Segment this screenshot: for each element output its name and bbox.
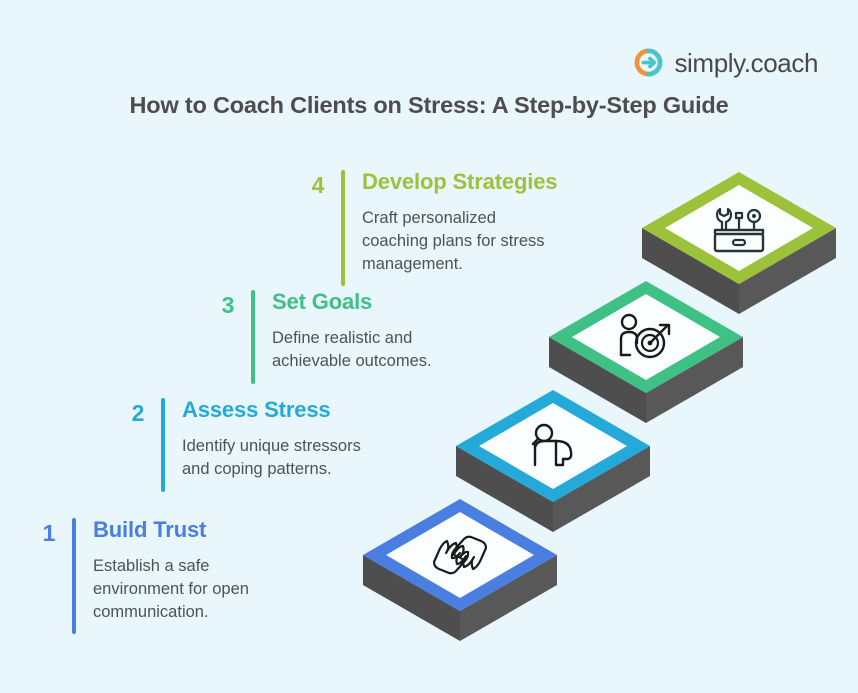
step-number-3: 3 (205, 290, 251, 317)
step-rule-4 (341, 170, 345, 286)
step-number-4: 4 (295, 170, 341, 197)
person-target-arrow-icon (621, 315, 669, 357)
step-block-3 (549, 281, 743, 423)
step-block-4 (642, 172, 836, 314)
step-rule-2 (161, 398, 165, 492)
step-rule-3 (251, 290, 255, 384)
step-description-2: Identify unique stressors and coping pat… (182, 435, 361, 482)
handshake-icon (434, 537, 486, 574)
step-item-4: 4 Develop Strategies Craft personalized … (295, 170, 557, 286)
step-block-2 (456, 390, 650, 532)
step-item-2: 2 Assess Stress Identify unique stressor… (115, 398, 361, 492)
step-description-4: Craft personalized coaching plans for st… (362, 207, 557, 277)
step-item-1: 1 Build Trust Establish a safe environme… (26, 518, 249, 634)
staircase-diagram: 1 Build Trust Establish a safe environme… (0, 0, 858, 693)
step-block-1 (363, 499, 557, 641)
step-item-3: 3 Set Goals Define realistic and achieva… (205, 290, 432, 384)
step-number-2: 2 (115, 398, 161, 425)
toolbox-tools-icon (715, 209, 763, 251)
step-number-1: 1 (26, 518, 72, 545)
step-description-3: Define realistic and achievable outcomes… (272, 327, 432, 374)
step-rule-1 (72, 518, 76, 634)
step-description-1: Establish a safe environment for open co… (93, 555, 249, 625)
step-title-1: Build Trust (93, 518, 249, 543)
person-head-profile-icon (533, 425, 571, 465)
step-title-2: Assess Stress (182, 398, 361, 423)
step-title-4: Develop Strategies (362, 170, 557, 195)
step-title-3: Set Goals (272, 290, 432, 315)
